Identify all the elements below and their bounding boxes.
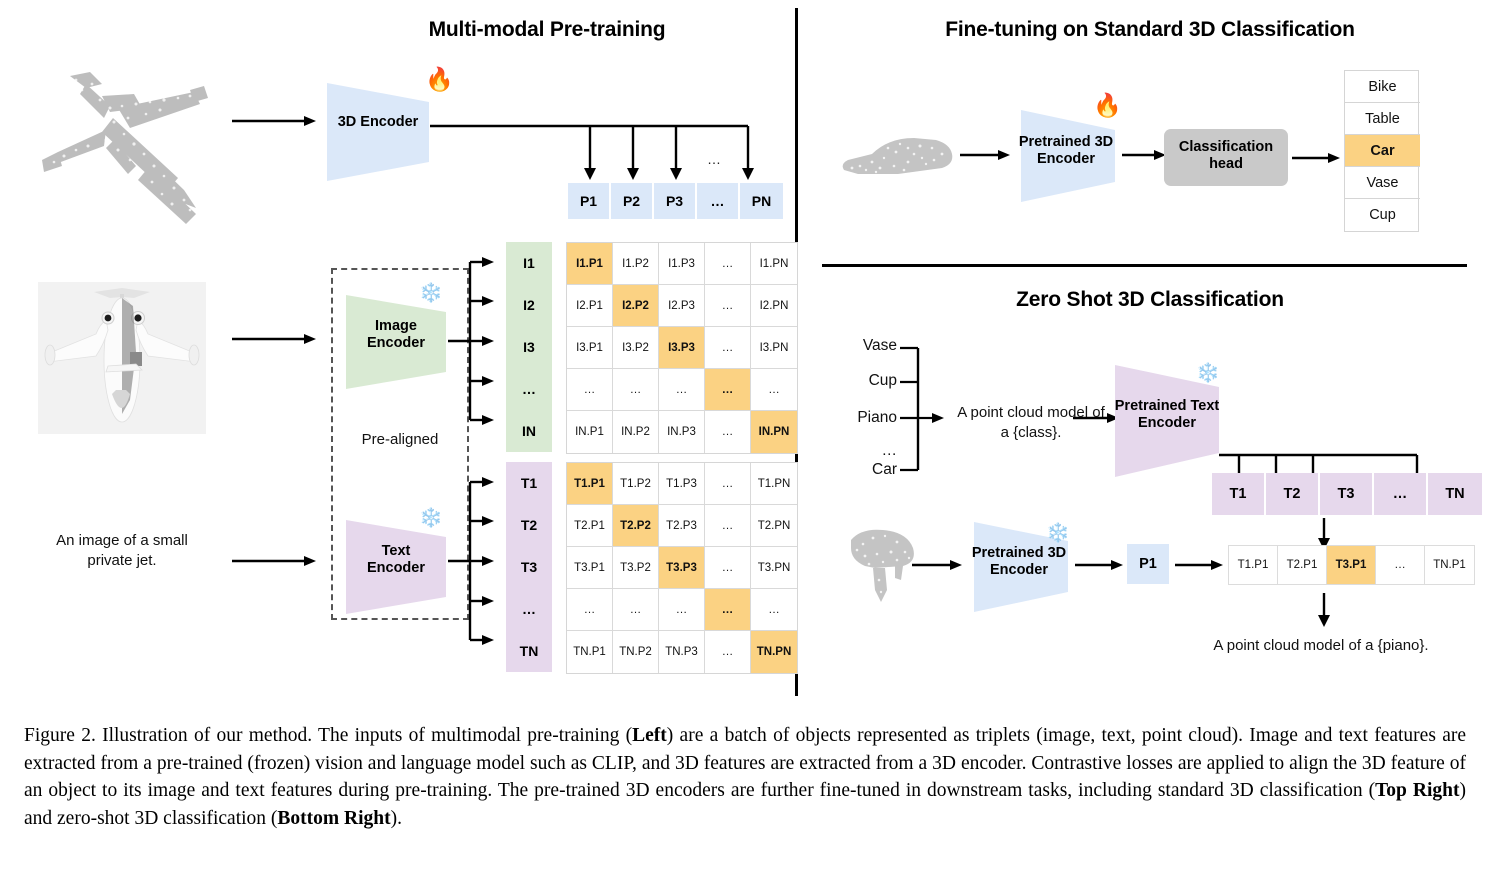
svg-text:…: … — [707, 151, 721, 167]
image-tag-item[interactable]: IN — [506, 410, 552, 452]
image-tag-item[interactable]: I1 — [506, 242, 552, 284]
matrix-cell[interactable]: IN.P1 — [567, 411, 613, 453]
class-list-item[interactable]: Bike — [1345, 71, 1420, 103]
matrix-cell[interactable]: … — [705, 463, 751, 505]
matrix-cell[interactable]: … — [705, 243, 751, 285]
similarity-cell[interactable]: TN.P1 — [1425, 546, 1474, 584]
text-point-similarity-matrix: T1.P1 T1.P2 T1.P3 … T1.PN T2.P1 T2.P2 T2… — [566, 462, 798, 674]
table-row: T3.P1 T3.P2 T3.P3 … T3.PN — [567, 547, 797, 589]
matrix-cell[interactable]: I1.PN — [751, 243, 797, 285]
arrow-head-to-classes — [1292, 151, 1342, 165]
matrix-cell[interactable]: T2.P1 — [567, 505, 613, 547]
zeroshot-text-feature-item[interactable]: … — [1374, 473, 1428, 515]
matrix-cell[interactable]: T3.P3 — [659, 547, 705, 589]
zeroshot-class-label: Cup — [835, 372, 897, 390]
similarity-cell[interactable]: T1.P1 — [1229, 546, 1278, 584]
arrow-p1-to-similarity — [1175, 558, 1225, 572]
matrix-cell[interactable]: … — [613, 589, 659, 631]
class-list-item[interactable]: Vase — [1345, 167, 1420, 199]
input-text-line1: An image of a small — [56, 532, 188, 549]
matrix-cell[interactable]: … — [705, 589, 751, 631]
matrix-cell[interactable]: TN.P1 — [567, 631, 613, 673]
zeroshot-class-label: Vase — [835, 337, 897, 355]
zeroshot-similarity-row: T1.P1 T2.P1 T3.P1 … TN.P1 — [1228, 545, 1475, 585]
zeroshot-class-label: Piano — [827, 409, 897, 427]
matrix-cell[interactable]: I2.P1 — [567, 285, 613, 327]
caption-bold-left: Left — [632, 725, 667, 746]
image-encoder-fanout — [448, 253, 496, 429]
input-text-line2: private jet. — [87, 552, 156, 569]
pre-aligned-label: Pre-aligned — [331, 430, 469, 450]
pretrained-3d-encoder-shape-finetune[interactable] — [1019, 108, 1117, 204]
matrix-cell[interactable]: T1.PN — [751, 463, 797, 505]
flame-icon: 🔥 — [425, 68, 454, 91]
matrix-cell[interactable]: … — [705, 547, 751, 589]
table-row: … … … … … — [567, 589, 797, 631]
caption-bold-topright: Top Right — [1375, 780, 1459, 801]
matrix-cell[interactable]: T2.PN — [751, 505, 797, 547]
snowflake-icon: ❄️ — [1046, 524, 1070, 543]
airplane-rendered-image — [38, 282, 206, 434]
matrix-cell[interactable]: I3.PN — [751, 327, 797, 369]
table-row: I1.P1 I1.P2 I1.P3 … I1.PN — [567, 243, 797, 285]
matrix-cell[interactable]: T1.P1 — [567, 463, 613, 505]
text-tag-item[interactable]: T2 — [506, 504, 552, 546]
figure-caption: Figure 2. Illustration of our method. Th… — [24, 722, 1466, 833]
caption-part-1: Figure 2. Illustration of our method. Th… — [24, 725, 632, 746]
matrix-cell[interactable]: T2.P3 — [659, 505, 705, 547]
arrow-encoder-to-head — [1122, 148, 1168, 162]
arrow-pointcloud-to-3dencoder — [232, 114, 318, 128]
matrix-cell[interactable]: I2.PN — [751, 285, 797, 327]
top-right-panel-title: Fine-tuning on Standard 3D Classificatio… — [840, 18, 1460, 42]
table-row: T1.P1 T1.P2 T1.P3 … T1.PN — [567, 463, 797, 505]
matrix-cell[interactable]: TN.P2 — [613, 631, 659, 673]
zeroshot-text-feature-item[interactable]: T2 — [1266, 473, 1320, 515]
matrix-cell[interactable]: … — [705, 411, 751, 453]
zeroshot-text-feature-row: T1 T2 T3 … TN — [1212, 473, 1482, 515]
matrix-cell[interactable]: … — [751, 369, 797, 411]
bottom-right-panel-title: Zero Shot 3D Classification — [840, 288, 1460, 312]
matrix-cell[interactable]: TN.P3 — [659, 631, 705, 673]
text-encoder-fanout — [448, 473, 496, 649]
similarity-cell[interactable]: T2.P1 — [1278, 546, 1327, 584]
class-prediction-list: Bike Table Car Vase Cup — [1344, 70, 1419, 232]
class-list-item[interactable]: Table — [1345, 103, 1420, 135]
p-feature-item[interactable]: P1 — [568, 183, 611, 219]
class-list-item[interactable]: Cup — [1345, 199, 1420, 231]
image-encoder-shape[interactable] — [344, 293, 448, 391]
image-tag-item[interactable]: I2 — [506, 284, 552, 326]
similarity-cell-selected[interactable]: T3.P1 — [1327, 546, 1376, 584]
matrix-cell[interactable]: I1.P2 — [613, 243, 659, 285]
p-feature-row: P1 P2 P3 … PN — [568, 183, 783, 219]
matrix-cell[interactable]: … — [613, 369, 659, 411]
left-panel-title: Multi-modal Pre-training — [297, 18, 797, 42]
arrow-car-to-encoder — [960, 148, 1012, 162]
matrix-cell[interactable]: … — [567, 369, 613, 411]
zeroshot-text-feature-item[interactable]: T1 — [1212, 473, 1266, 515]
matrix-cell[interactable]: T2.P2 — [613, 505, 659, 547]
table-row: I2.P1 I2.P2 I2.P3 … I2.PN — [567, 285, 797, 327]
image-tag-item[interactable]: I3 — [506, 326, 552, 368]
threed-encoder-output-bus: … — [430, 118, 756, 188]
table-row: TN.P1 TN.P2 TN.P3 … TN.PN — [567, 631, 797, 673]
matrix-cell[interactable]: … — [659, 369, 705, 411]
matrix-cell[interactable]: I3.P3 — [659, 327, 705, 369]
prompt-line2: a {class}. — [1001, 424, 1062, 441]
image-tag-item[interactable]: … — [506, 368, 552, 410]
caption-part-4: ). — [391, 808, 402, 829]
image-point-similarity-matrix: I1.P1 I1.P2 I1.P3 … I1.PN I2.P1 I2.P2 I2… — [566, 242, 798, 454]
matrix-cell[interactable]: IN.P2 — [613, 411, 659, 453]
matrix-cell[interactable]: IN.PN — [751, 411, 797, 453]
text-tag-item[interactable]: TN — [506, 630, 552, 672]
similarity-cell[interactable]: … — [1376, 546, 1425, 584]
image-tag-column: I1 I2 I3 … IN — [506, 242, 552, 452]
arrow-similarity-to-result — [1316, 593, 1332, 629]
matrix-cell[interactable]: I2.P2 — [613, 285, 659, 327]
matrix-cell[interactable]: … — [567, 589, 613, 631]
matrix-cell[interactable]: I1.P3 — [659, 243, 705, 285]
input-text-caption: An image of a small private jet. — [24, 531, 220, 570]
matrix-cell[interactable]: I3.P1 — [567, 327, 613, 369]
flame-icon: 🔥 — [1093, 94, 1122, 117]
matrix-cell[interactable]: T1.P2 — [613, 463, 659, 505]
matrix-cell[interactable]: T1.P3 — [659, 463, 705, 505]
table-row: … … … … … — [567, 369, 797, 411]
zeroshot-result-text: A point cloud model of a {piano}. — [1176, 637, 1466, 654]
matrix-cell[interactable]: I1.P1 — [567, 243, 613, 285]
arrow-piano-to-encoder — [912, 558, 964, 572]
text-tag-item[interactable]: T1 — [506, 462, 552, 504]
zeroshot-p-feature[interactable]: P1 — [1127, 544, 1169, 584]
arrow-image-to-imageencoder — [232, 332, 318, 346]
snowflake-icon: ❄️ — [419, 509, 443, 528]
table-row: I3.P1 I3.P2 I3.P3 … I3.PN — [567, 327, 797, 369]
matrix-cell[interactable]: T3.P2 — [613, 547, 659, 589]
matrix-cell[interactable]: I3.P2 — [613, 327, 659, 369]
p-feature-item[interactable]: PN — [740, 183, 783, 219]
text-tag-item[interactable]: … — [506, 588, 552, 630]
caption-bold-bottomright: Bottom Right — [277, 808, 390, 829]
matrix-cell[interactable]: I2.P3 — [659, 285, 705, 327]
table-row: IN.P1 IN.P2 IN.P3 … IN.PN — [567, 411, 797, 453]
p-feature-item[interactable]: P2 — [611, 183, 654, 219]
zeroshot-text-feature-item[interactable]: T3 — [1320, 473, 1374, 515]
snowflake-icon: ❄️ — [419, 284, 443, 303]
class-list-item-selected[interactable]: Car — [1345, 135, 1420, 167]
zeroshot-class-label: Car — [835, 461, 897, 479]
car-point-cloud — [838, 130, 958, 186]
text-tag-column: T1 T2 T3 … TN — [506, 462, 552, 672]
matrix-cell[interactable]: T3.PN — [751, 547, 797, 589]
p-feature-item[interactable]: … — [697, 183, 740, 219]
matrix-cell[interactable]: … — [659, 589, 705, 631]
matrix-cell[interactable]: IN.P3 — [659, 411, 705, 453]
classification-head-box[interactable] — [1164, 129, 1288, 186]
zeroshot-text-feature-item[interactable]: TN — [1428, 473, 1482, 515]
zeroshot-class-label: … — [835, 442, 897, 460]
matrix-cell[interactable]: … — [751, 589, 797, 631]
text-tag-item[interactable]: T3 — [506, 546, 552, 588]
text-encoder-shape[interactable] — [344, 518, 448, 616]
matrix-cell[interactable]: … — [705, 327, 751, 369]
matrix-cell[interactable]: … — [705, 285, 751, 327]
matrix-cell[interactable]: T3.P1 — [567, 547, 613, 589]
matrix-cell[interactable]: TN.PN — [751, 631, 797, 673]
matrix-cell[interactable]: … — [705, 631, 751, 673]
snowflake-icon: ❄️ — [1196, 364, 1220, 383]
arrow-encoder-to-p1 — [1075, 558, 1125, 572]
matrix-cell[interactable]: … — [705, 505, 751, 547]
p-feature-item[interactable]: P3 — [654, 183, 697, 219]
matrix-cell[interactable]: … — [705, 369, 751, 411]
airplane-point-cloud — [18, 48, 218, 238]
figure-root: Multi-modal Pre-training — [0, 0, 1490, 888]
threed-encoder-shape[interactable] — [325, 81, 431, 183]
table-row: T2.P1 T2.P2 T2.P3 … T2.PN — [567, 505, 797, 547]
panel-divider-horizontal — [822, 264, 1467, 267]
arrow-text-to-textencoder — [232, 554, 318, 568]
